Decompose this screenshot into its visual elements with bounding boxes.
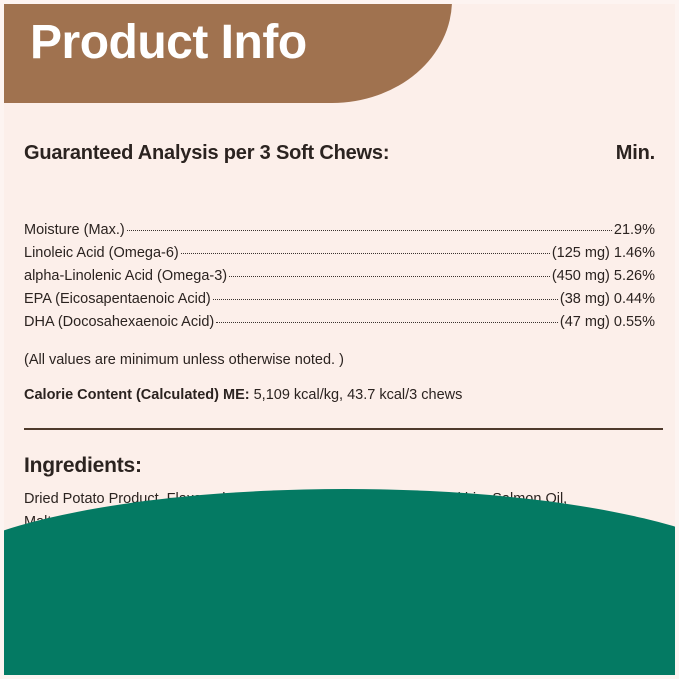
guaranteed-analysis-header: Guaranteed Analysis per 3 Soft Chews: Mi… [24, 142, 655, 165]
dot-leader [229, 266, 550, 281]
nutrient-label: Linoleic Acid (Omega-6) [24, 242, 179, 265]
table-row: alpha-Linolenic Acid (Omega-3) (450 mg) … [24, 265, 655, 288]
calorie-content: Calorie Content (Calculated) ME: 5,109 k… [24, 385, 462, 405]
nutrient-label: alpha-Linolenic Acid (Omega-3) [24, 265, 227, 288]
dot-leader [213, 289, 558, 304]
guaranteed-analysis-title: Guaranteed Analysis per 3 Soft Chews: [24, 142, 389, 165]
nutrient-label: EPA (Eicosapentaenoic Acid) [24, 288, 211, 311]
minimum-values-note: (All values are minimum unless otherwise… [24, 350, 344, 370]
nutrient-value: 21.9% [614, 219, 655, 242]
table-row: DHA (Docosahexaenoic Acid) (47 mg) 0.55% [24, 311, 655, 334]
product-info-label: Product Info Guaranteed Analysis per 3 S… [0, 0, 679, 679]
calorie-content-label: Calorie Content (Calculated) ME: [24, 387, 250, 403]
nutrient-value: (125 mg) 1.46% [552, 242, 655, 265]
dot-leader [181, 243, 550, 258]
nutrient-value: (450 mg) 5.26% [552, 265, 655, 288]
nutrient-value: (38 mg) 0.44% [560, 288, 655, 311]
page-title: Product Info [30, 17, 307, 70]
guaranteed-analysis-rows: Moisture (Max.) 21.9% Linoleic Acid (Ome… [24, 219, 655, 334]
dot-leader [216, 312, 558, 327]
table-row: Linoleic Acid (Omega-6) (125 mg) 1.46% [24, 242, 655, 265]
table-row: EPA (Eicosapentaenoic Acid) (38 mg) 0.44… [24, 288, 655, 311]
nutrient-value: (47 mg) 0.55% [560, 311, 655, 334]
dot-leader [127, 220, 612, 235]
section-divider [24, 428, 663, 430]
ingredients-title: Ingredients: [24, 454, 142, 478]
guaranteed-analysis-column-header: Min. [616, 142, 655, 165]
table-row: Moisture (Max.) 21.9% [24, 219, 655, 242]
calorie-content-value: 5,109 kcal/kg, 43.7 kcal/3 chews [254, 387, 463, 403]
footer-banner [0, 489, 679, 679]
nutrient-label: Moisture (Max.) [24, 219, 125, 242]
nutrient-label: DHA (Docosahexaenoic Acid) [24, 311, 214, 334]
